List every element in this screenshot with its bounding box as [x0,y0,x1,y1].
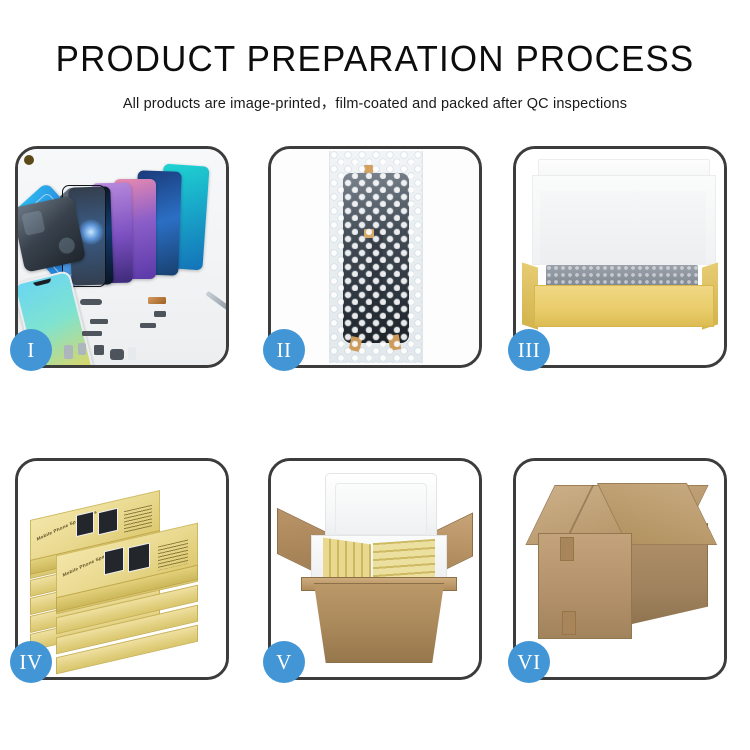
step-badge-5: V [263,641,305,683]
box-art-screen-3 [104,547,124,576]
step-6-image [516,461,724,677]
part-small-3 [110,349,124,360]
step-badge-6: VI [508,641,550,683]
part-small-5 [64,345,73,359]
part-cable-2 [82,331,102,336]
process-step-card-6[interactable]: VI [513,458,727,680]
step-1-image [18,149,226,365]
box-art-screen-4 [128,542,150,572]
step-badge-3: III [508,329,550,371]
retail-box-front: Mobile Phone Spare Parts [56,539,196,581]
step-badge-1: I [10,329,52,371]
step-4-image: Mobile Phone Spare Parts Mobile Phone Sp… [18,461,226,677]
box-art-screen-2 [98,508,118,536]
carton-tape-upper [560,537,574,561]
process-step-card-4[interactable]: Mobile Phone Spare Parts Mobile Phone Sp… [15,458,229,680]
step-badge-4: IV [10,641,52,683]
process-step-card-2[interactable]: II [268,146,482,368]
step-2-image [271,149,479,365]
process-step-card-1[interactable]: I [15,146,229,368]
page-header: PRODUCT PREPARATION PROCESS All products… [0,0,750,113]
step-5-image [271,461,479,677]
carton-front-face [538,533,632,639]
part-flex-1 [148,297,166,304]
bubble-texture [330,151,422,363]
carton-tape-lower [562,611,576,635]
part-flex-2 [154,311,166,317]
box-inner-wall [540,191,706,265]
part-cable-1 [90,319,108,324]
step-badge-2: II [263,329,305,371]
part-small-2 [94,345,104,355]
process-step-card-5[interactable]: V [268,458,482,680]
part-small-1 [78,343,86,355]
part-cable-3 [140,323,156,328]
step-3-image [516,149,724,365]
process-step-grid: I II III [0,140,750,700]
bubble-wrap-bag [329,151,423,363]
process-step-card-3[interactable]: III [513,146,727,368]
page-title: PRODUCT PREPARATION PROCESS [11,38,739,80]
carton-body [305,583,453,663]
part-small-4 [128,347,136,360]
part-strip-1 [80,299,102,305]
page-subtitle: All products are image-printed，film-coat… [0,92,750,113]
box-front-panel [534,285,714,327]
box-art-screen-1 [76,511,94,537]
